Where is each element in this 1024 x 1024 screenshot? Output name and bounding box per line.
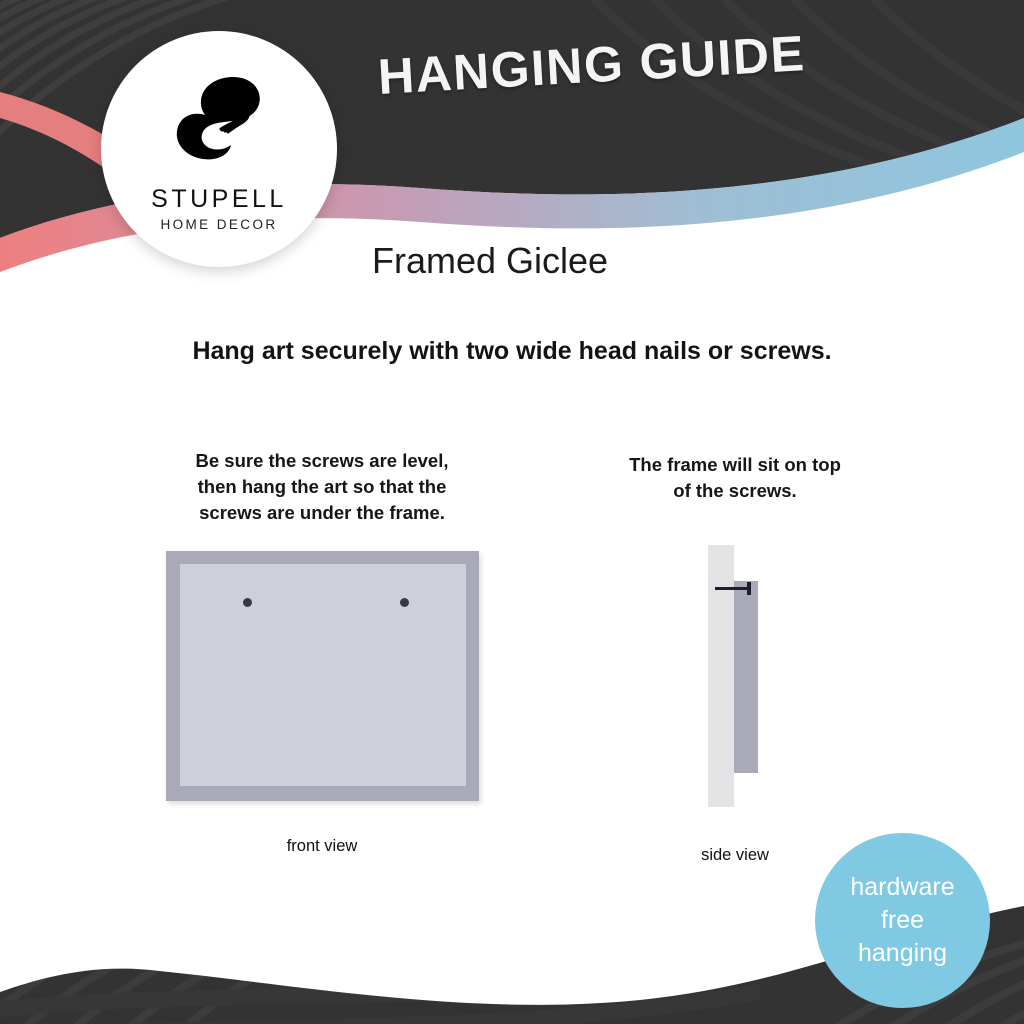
screw-shaft-icon <box>715 587 749 590</box>
frame-border <box>166 551 479 801</box>
side-view-label: side view <box>701 846 769 865</box>
logo-wordmark: STUPELL <box>151 185 287 214</box>
product-name: Framed Giclee <box>372 240 608 282</box>
hanging-guide-page: STUPELL HOME DECOR HANGING GUIDE Framed … <box>0 0 1024 1024</box>
side-view-caption: The frame will sit on top of the screws. <box>590 452 880 504</box>
side-view-caption-line-1: The frame will sit on top <box>590 452 880 478</box>
hardware-free-badge: hardware free hanging <box>815 833 990 1008</box>
page-title: HANGING GUIDE <box>376 24 806 106</box>
wall-strip <box>708 545 734 807</box>
front-view-caption: Be sure the screws are level, then hang … <box>157 448 487 526</box>
screw-dot-right-icon <box>400 598 409 607</box>
logo-subtext: HOME DECOR <box>160 217 277 232</box>
front-view-caption-line-2: then hang the art so that the <box>157 474 487 500</box>
hardware-free-badge-line-3: hanging <box>858 937 947 970</box>
front-view-diagram <box>166 551 479 801</box>
stupell-logo-badge: STUPELL HOME DECOR <box>101 31 337 267</box>
front-view-caption-line-3: screws are under the frame. <box>157 500 487 526</box>
screw-head-icon <box>747 582 751 595</box>
hardware-free-badge-line-1: hardware <box>850 871 954 904</box>
main-instruction: Hang art securely with two wide head nai… <box>192 337 831 366</box>
front-view-caption-line-1: Be sure the screws are level, <box>157 448 487 474</box>
front-view-label: front view <box>287 837 358 856</box>
frame-mat <box>180 564 466 786</box>
screw-dot-left-icon <box>243 598 252 607</box>
stupell-s-swoosh-icon <box>159 61 279 181</box>
side-view-diagram <box>708 545 772 807</box>
frame-strip <box>734 581 758 773</box>
hardware-free-badge-line-2: free <box>881 904 924 937</box>
side-view-caption-line-2: of the screws. <box>590 478 880 504</box>
